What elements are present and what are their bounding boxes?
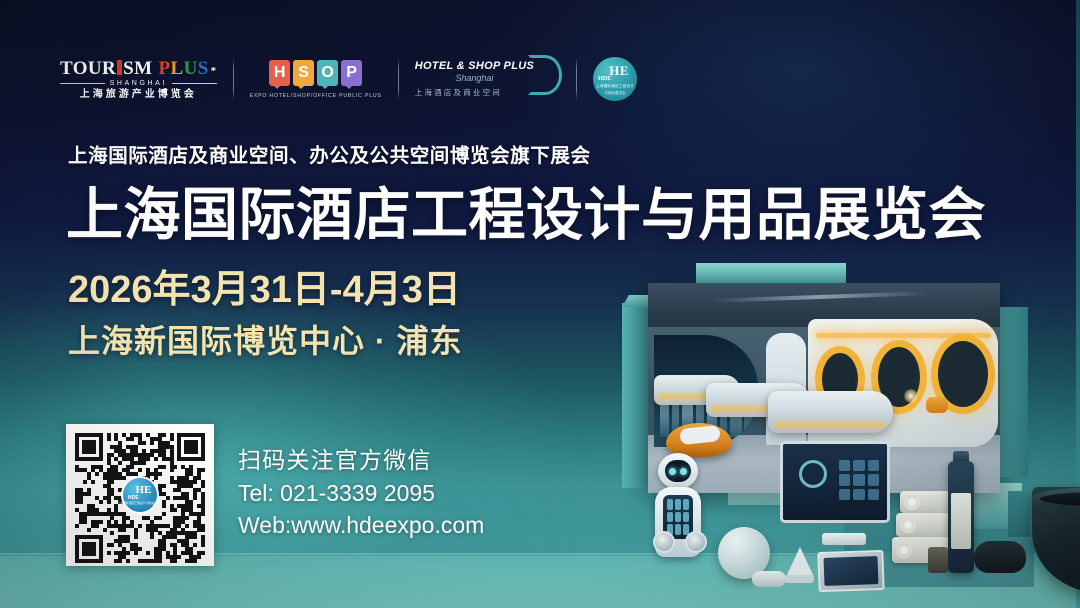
banner-title: 上海国际酒店工程设计与用品展览会 (66, 186, 986, 246)
qr-finder-pattern (75, 433, 103, 461)
black-basin (1032, 487, 1080, 593)
he-mark-big: HE (609, 64, 629, 77)
qr-module (158, 559, 162, 563)
qr-module (193, 535, 197, 539)
qr-timing-module (122, 457, 126, 461)
qr-module (150, 535, 154, 539)
qr-module (142, 441, 146, 445)
tourism-plus-wordmark: TOURSM PLUS* (60, 59, 217, 78)
puck-device (752, 571, 786, 587)
robot-wheel (653, 531, 675, 553)
tourism-plus-s: S (198, 59, 209, 78)
qr-module (177, 555, 181, 559)
logo-divider (398, 58, 399, 100)
qr-module (197, 555, 201, 559)
tourism-plus-sm: SM (123, 59, 152, 78)
tablet-keypad (839, 460, 879, 500)
he-caption-line1: 上海国际酒店工程设计 (596, 84, 634, 89)
qr-timing-module (170, 457, 174, 461)
qr-timing-module (138, 457, 142, 461)
qr-logo-caption: 上海国际酒店工程设计与用品展览会 (118, 502, 163, 506)
logo-bar: TOURSM PLUS* SHANGHAI 上海旅游产业博览会 H S O (60, 52, 637, 106)
hsop-letter-row: H S O P (269, 60, 362, 86)
orange-beanbag-chair (666, 423, 732, 457)
qr-module (87, 528, 91, 532)
logo-hotel-shop-plus[interactable]: HOTEL & SHOP PLUS Shanghai 上海酒店及商业空间 (415, 52, 560, 106)
tourism-plus-i-bar (117, 60, 122, 75)
qr-module (95, 524, 99, 528)
qr-module (201, 551, 205, 555)
promo-banner: TOURSM PLUS* SHANGHAI 上海旅游产业博览会 H S O (0, 0, 1080, 608)
qr-module (162, 465, 166, 469)
qr-module (146, 551, 150, 555)
qr-module (185, 516, 189, 520)
event-venue: 上海新国际博览中心 · 浦东 (68, 324, 462, 359)
scene-slab-top (696, 263, 846, 283)
qr-module (91, 480, 95, 484)
hsop-letter-s: S (293, 60, 314, 86)
hsp-name-cn: 上海酒店及商业空间 (415, 87, 502, 98)
qr-module (201, 512, 205, 516)
qr-module (158, 516, 162, 520)
logo-he-circle[interactable]: HE HDE 上海国际酒店工程设计 与用品展览会 (593, 52, 637, 106)
qr-finder-core (184, 440, 198, 454)
hsop-letter-o: O (317, 60, 338, 86)
qr-module (173, 508, 177, 512)
qr-module (162, 484, 166, 488)
qr-module (122, 528, 126, 532)
qr-module (83, 480, 87, 484)
tourism-plus-tour: TOUR (60, 59, 116, 78)
contact-block: 扫码关注官方微信 Tel: 021-3339 2095 Web:www.hdee… (238, 444, 484, 542)
qr-module (130, 437, 134, 441)
hsp-title-en: HOTEL & SHOP PLUS (415, 60, 534, 72)
qr-module (110, 480, 114, 484)
tablet-dial (799, 460, 827, 488)
qr-module (193, 496, 197, 500)
hotel-scene-illustration (600, 255, 1080, 608)
hsop-letter-h: H (269, 60, 290, 86)
wechat-prompt: 扫码关注官方微信 (238, 444, 484, 477)
cone-device-base (784, 575, 814, 583)
robot-head (658, 453, 698, 489)
towel-roll-end (900, 517, 916, 533)
scene-slab-right (998, 307, 1028, 477)
tourism-plus-name-cn: 上海旅游产业博览会 (80, 90, 197, 100)
qr-module (170, 437, 174, 441)
robot-face (665, 460, 691, 482)
orange-cushion (926, 397, 948, 413)
contact-tel: Tel: 021-3339 2095 (238, 477, 484, 510)
qr-module (99, 520, 103, 524)
qr-module (173, 465, 177, 469)
qr-module (201, 528, 205, 532)
qr-module (154, 476, 158, 480)
qr-module (162, 433, 166, 437)
qr-module (107, 500, 111, 504)
contact-web[interactable]: Web:www.hdeexpo.com (238, 509, 484, 542)
qr-finder-core (82, 542, 96, 556)
qr-module (87, 492, 91, 496)
qr-module (107, 437, 111, 441)
qr-module (79, 500, 83, 504)
qr-module (118, 559, 122, 563)
qr-module (134, 551, 138, 555)
robot-eye (669, 468, 676, 475)
logo-tourism-plus[interactable]: TOURSM PLUS* SHANGHAI 上海旅游产业博览会 (60, 52, 217, 106)
qr-module (158, 472, 162, 476)
robot-wheel (685, 531, 707, 553)
scene-box-right-side (1008, 491, 1030, 537)
qr-module (162, 512, 166, 516)
tourism-plus-l: L (170, 59, 183, 78)
qr-module (126, 551, 130, 555)
towel-roll-end (896, 542, 912, 558)
qr-module (103, 528, 107, 532)
qr-module (75, 524, 79, 528)
qr-finder-core (82, 440, 96, 454)
qr-module (201, 468, 205, 472)
qr-module (138, 468, 142, 472)
qr-module (185, 524, 189, 528)
amber-light-strip (816, 333, 991, 338)
qr-module (95, 472, 99, 476)
logo-divider (576, 58, 577, 100)
towel-roll-end (904, 494, 920, 510)
pod-bed (768, 391, 893, 433)
small-tablet (817, 550, 884, 592)
qr-module (107, 551, 111, 555)
he-caption-line2: 与用品展览会 (604, 90, 626, 95)
amenity-jar (928, 547, 948, 573)
qr-finder-pattern (75, 535, 103, 563)
qr-module (193, 543, 197, 547)
sleep-pod (938, 341, 988, 407)
hsop-caption: EXPO HOTEL/SHOP/OFFICE PUBLIC PLUS (250, 93, 382, 99)
black-amenity-pod (974, 541, 1026, 573)
qr-module (110, 531, 114, 535)
tourism-plus-city: SHANGHAI (110, 80, 167, 87)
qr-module (138, 524, 142, 528)
hsp-city-en: Shanghai (455, 73, 493, 83)
qr-module (193, 559, 197, 563)
qr-finder-pattern (177, 433, 205, 461)
qr-module (150, 441, 154, 445)
qr-module (122, 476, 126, 480)
control-tablet (780, 441, 890, 523)
qr-timing-module (114, 457, 118, 461)
pod-lamp-glow (904, 389, 918, 403)
qr-module (130, 465, 134, 469)
tourism-plus-rule: SHANGHAI (60, 80, 217, 87)
event-date: 2026年3月31日-4月3日 (68, 270, 461, 312)
qr-module (118, 461, 122, 465)
tourism-plus-u: U (184, 59, 198, 78)
qr-module (193, 480, 197, 484)
tourism-plus-p: P (158, 59, 170, 78)
wechat-qr-code[interactable]: HE HDE 上海国际酒店工程设计与用品展览会 (66, 424, 214, 566)
logo-hsop[interactable]: H S O P EXPO HOTEL/SHOP/OFFICE PUBLIC PL… (250, 52, 382, 106)
qr-timing-module (146, 457, 150, 461)
qr-timing-module (154, 457, 158, 461)
robot-eye (680, 468, 687, 475)
qr-module (110, 543, 114, 547)
logo-divider (233, 58, 234, 100)
qr-module (126, 559, 130, 563)
hsp-arc-icon (528, 55, 562, 95)
qr-center-logo: HE HDE 上海国际酒店工程设计与用品展览会 (121, 476, 159, 514)
qr-module (134, 535, 138, 539)
qr-module (201, 484, 205, 488)
qr-module (166, 496, 170, 500)
qr-module (99, 500, 103, 504)
qr-module (201, 543, 205, 547)
qr-canvas: HE HDE 上海国际酒店工程设计与用品展览会 (75, 433, 205, 557)
qr-timing-module (162, 457, 166, 461)
cone-device (786, 547, 814, 577)
he-mark-small: HDE (598, 76, 611, 82)
robot-body (655, 487, 701, 557)
service-robot (648, 453, 708, 581)
banner-subtitle: 上海国际酒店及商业空间、办公及公共空间博览会旗下展会 (68, 139, 591, 168)
qr-logo-small: HDE (128, 496, 139, 501)
qr-timing-module (107, 457, 111, 461)
hsop-letter-p: P (341, 60, 362, 86)
qr-module (173, 559, 177, 563)
scene-slab-left (622, 303, 648, 488)
qr-timing-module (130, 457, 134, 461)
remote-bar (822, 533, 866, 545)
qr-module (142, 461, 146, 465)
amenity-bottle-label (951, 493, 971, 549)
qr-module (83, 520, 87, 524)
qr-module (170, 468, 174, 472)
bed-light-line (776, 424, 884, 426)
qr-module (138, 547, 142, 551)
tourism-plus-star: * (211, 66, 217, 77)
